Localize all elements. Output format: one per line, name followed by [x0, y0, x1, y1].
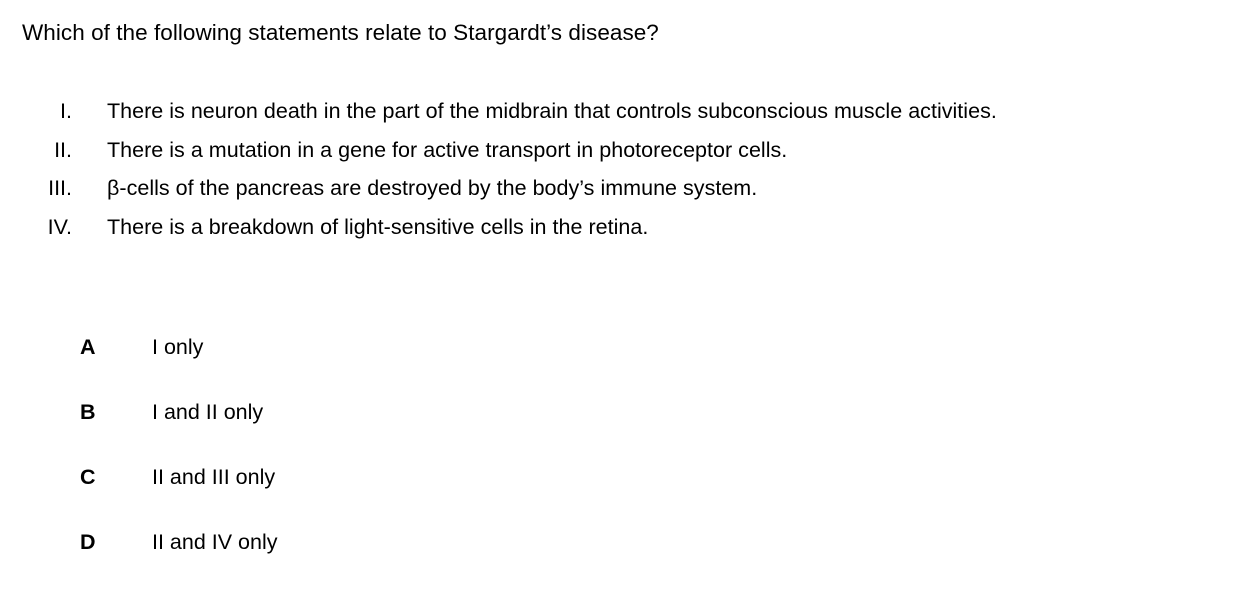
- answer-option-letter: D: [80, 528, 96, 556]
- statement-marker: II.: [0, 131, 72, 170]
- answer-option-letter: A: [80, 333, 96, 361]
- statement-marker: IV.: [0, 208, 72, 247]
- answer-option-letter: B: [80, 398, 96, 426]
- statement-text: There is a mutation in a gene for active…: [107, 131, 1075, 170]
- statement-item: I. There is neuron death in the part of …: [0, 92, 1130, 131]
- statement-list: I. There is neuron death in the part of …: [0, 92, 1130, 246]
- answer-option-text: I and II only: [152, 398, 263, 426]
- statement-marker: III.: [0, 169, 72, 208]
- statement-text: There is a breakdown of light-sensitive …: [107, 208, 1075, 247]
- statement-marker: I.: [0, 92, 72, 131]
- answer-option-letter: C: [80, 463, 96, 491]
- statement-item: IV. There is a breakdown of light-sensit…: [0, 208, 1130, 247]
- statement-text: β-cells of the pancreas are destroyed by…: [107, 169, 1075, 208]
- statement-text: There is neuron death in the part of the…: [107, 92, 1075, 131]
- answer-option-text: II and III only: [152, 463, 275, 491]
- answer-option-text: I only: [152, 333, 203, 361]
- statement-item: II. There is a mutation in a gene for ac…: [0, 131, 1130, 170]
- statement-item: III. β-cells of the pancreas are destroy…: [0, 169, 1130, 208]
- question-page: Which of the following statements relate…: [0, 0, 1247, 582]
- page-title: Which of the following statements relate…: [22, 18, 659, 48]
- answer-option-text: II and IV only: [152, 528, 278, 556]
